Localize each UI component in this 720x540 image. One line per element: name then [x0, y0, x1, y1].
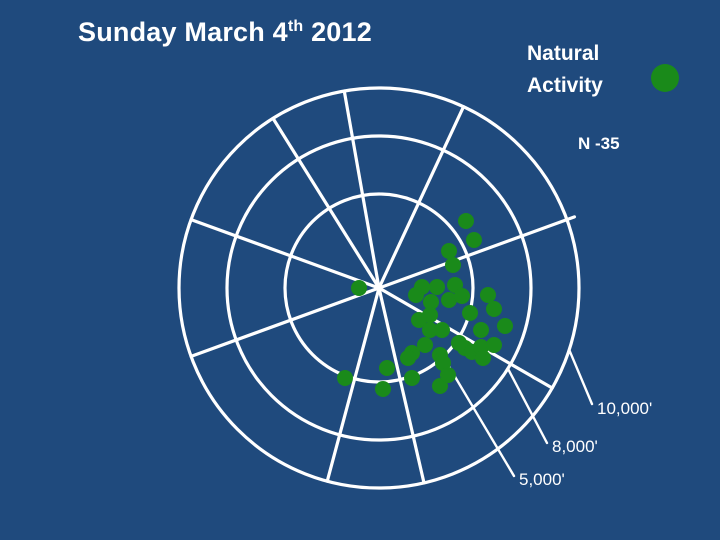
data-point: [458, 213, 474, 229]
data-point: [480, 287, 496, 303]
ring-label-5000: 5,000': [519, 470, 565, 490]
data-point: [400, 350, 416, 366]
data-point: [337, 370, 353, 386]
data-point: [404, 370, 420, 386]
data-point: [486, 301, 502, 317]
data-point: [497, 318, 513, 334]
grid-spoke-255: [327, 288, 379, 481]
slide-canvas: Sunday March 4th 2012 Natural Activity N…: [0, 0, 720, 540]
ring-label-10000: 10,000': [597, 399, 652, 419]
data-point: [408, 287, 424, 303]
data-point: [434, 322, 450, 338]
leader-line-10000: [569, 350, 592, 404]
data-point: [375, 381, 391, 397]
data-point: [441, 243, 457, 259]
sample-count-label: N -35: [578, 134, 620, 154]
legend-label: Natural Activity: [527, 38, 637, 102]
data-point: [466, 232, 482, 248]
data-point: [454, 288, 470, 304]
data-point: [473, 322, 489, 338]
data-point: [475, 350, 491, 366]
data-point: [486, 337, 502, 353]
data-point: [379, 360, 395, 376]
data-point: [462, 305, 478, 321]
data-point: [429, 279, 445, 295]
data-point: [445, 257, 461, 273]
ring-label-8000: 8,000': [552, 437, 598, 457]
polar-grid: [179, 88, 579, 488]
legend-label-line1: Natural: [527, 38, 637, 70]
data-point: [440, 367, 456, 383]
data-point: [351, 280, 367, 296]
legend-marker-dot: [651, 64, 679, 92]
legend-label-line2: Activity: [527, 70, 637, 102]
